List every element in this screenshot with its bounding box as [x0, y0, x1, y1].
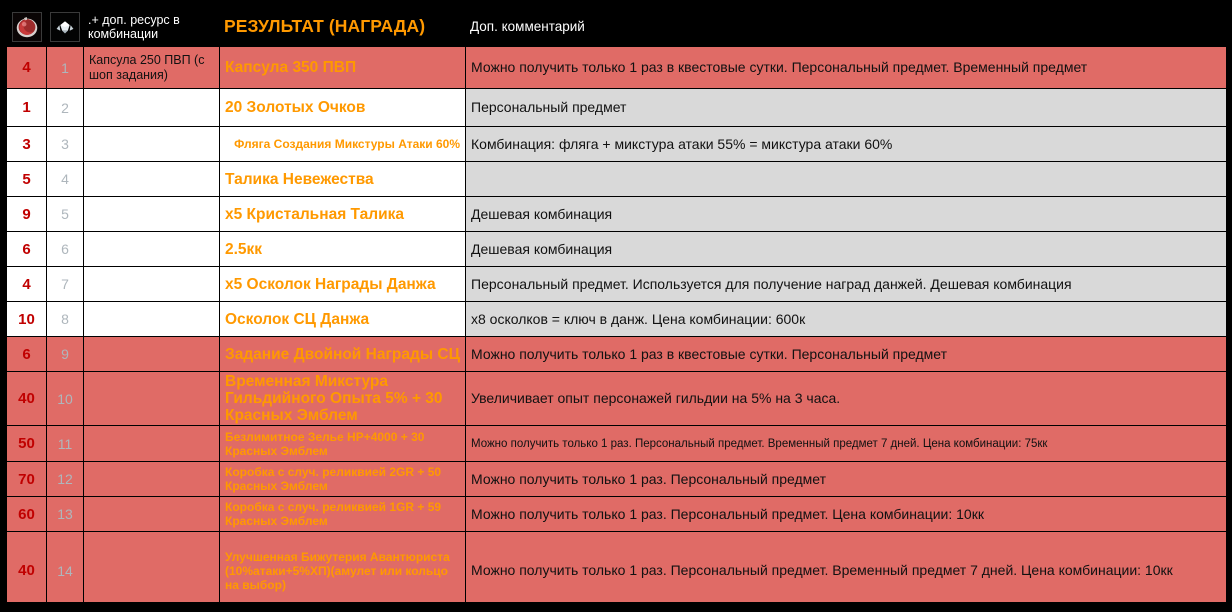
- table-row: 33Фляга Создания Микстуры Атаки 60%Комби…: [7, 127, 1227, 162]
- cell-extra-resource: [84, 372, 220, 426]
- header-comment-label: Доп. комментарий: [470, 19, 1222, 34]
- cell-comment: Можно получить только 1 раз. Персональны…: [466, 462, 1227, 497]
- cell-comment: [466, 162, 1227, 197]
- cell-comment: Персональный предмет: [466, 89, 1227, 127]
- cell-comment: x8 осколков = ключ в данж. Цена комбинац…: [466, 302, 1227, 337]
- table-row: 7012Коробка с случ. реликвией 2GR + 50 К…: [7, 462, 1227, 497]
- cell-cost: 6: [7, 232, 47, 267]
- cell-comment: Можно получить только 1 раз. Персональны…: [466, 532, 1227, 610]
- cell-extra-resource: [84, 462, 220, 497]
- header-comment-cell: Доп. комментарий: [466, 7, 1227, 47]
- cell-comment: Дешевая комбинация: [466, 197, 1227, 232]
- cell-result: 2.5кк: [220, 232, 466, 267]
- cell-comment: Персональный предмет. Используется для п…: [466, 267, 1227, 302]
- table-row: 6013Коробка с случ. реликвией 1GR + 59 К…: [7, 497, 1227, 532]
- cell-extra-resource: [84, 532, 220, 610]
- header-cost-icon-cell: [7, 7, 47, 47]
- cell-comment: Можно получить только 1 раз. Персональны…: [466, 497, 1227, 532]
- cell-extra-resource: Капсула 250 ПВП (с шоп задания): [84, 47, 220, 89]
- cell-result: x5 Кристальная Талика: [220, 197, 466, 232]
- cell-extra-resource: [84, 497, 220, 532]
- cell-index: 12: [47, 462, 84, 497]
- cell-index: 10: [47, 372, 84, 426]
- table-row: 41Капсула 250 ПВП (с шоп задания)Капсула…: [7, 47, 1227, 89]
- cell-index: 9: [47, 337, 84, 372]
- cell-comment: Увеличивает опыт персонажей гильдии на 5…: [466, 372, 1227, 426]
- header-resource-icon-cell: [47, 7, 84, 47]
- cell-extra-resource: [84, 267, 220, 302]
- cell-extra-resource: [84, 162, 220, 197]
- cell-cost: 60: [7, 497, 47, 532]
- cell-result: Коробка с случ. реликвией 2GR + 50 Красн…: [220, 462, 466, 497]
- header-extra-cell: .+ доп. ресурс в комбинации: [84, 7, 220, 47]
- cell-result: Улучшенная Бижутерия Авантюриста (10%ата…: [220, 532, 466, 610]
- cell-index: 4: [47, 162, 84, 197]
- table-row: 662.5ккДешевая комбинация: [7, 232, 1227, 267]
- cell-cost: 6: [7, 337, 47, 372]
- red-gem-icon: [12, 12, 42, 42]
- cell-comment: Можно получить только 1 раз в квестовые …: [466, 337, 1227, 372]
- cell-index: 6: [47, 232, 84, 267]
- cell-cost: 40: [7, 372, 47, 426]
- cell-index: 5: [47, 197, 84, 232]
- cell-cost: 9: [7, 197, 47, 232]
- header-result-label: РЕЗУЛЬТАТ (НАГРАДА): [224, 16, 461, 37]
- table-row: 1220 Золотых ОчковПерсональный предмет: [7, 89, 1227, 127]
- cell-comment: Комбинация: фляга + микстура атаки 55% =…: [466, 127, 1227, 162]
- header-result-cell: РЕЗУЛЬТАТ (НАГРАДА): [220, 7, 466, 47]
- cell-result: Задание Двойной Награды СЦ: [220, 337, 466, 372]
- cell-cost: 70: [7, 462, 47, 497]
- cell-result: Коробка с случ. реликвией 1GR + 59 Красн…: [220, 497, 466, 532]
- cell-index: 8: [47, 302, 84, 337]
- reward-table-body: .+ доп. ресурс в комбинации РЕЗУЛЬТАТ (Н…: [7, 7, 1227, 610]
- cell-extra-resource: [84, 426, 220, 462]
- cell-extra-resource: [84, 197, 220, 232]
- reward-table: .+ доп. ресурс в комбинации РЕЗУЛЬТАТ (Н…: [6, 6, 1227, 610]
- header-extra-label: .+ доп. ресурс в комбинации: [88, 13, 215, 41]
- cell-result: x5 Осколок Награды Данжа: [220, 267, 466, 302]
- cell-comment: Можно получить только 1 раз в квестовые …: [466, 47, 1227, 89]
- table-row: 47x5 Осколок Награды ДанжаПерсональный п…: [7, 267, 1227, 302]
- cell-index: 3: [47, 127, 84, 162]
- cell-index: 11: [47, 426, 84, 462]
- table-header-row: .+ доп. ресурс в комбинации РЕЗУЛЬТАТ (Н…: [7, 7, 1227, 47]
- cell-cost: 1: [7, 89, 47, 127]
- cell-cost: 4: [7, 47, 47, 89]
- cell-cost: 4: [7, 267, 47, 302]
- cell-result: Талика Невежества: [220, 162, 466, 197]
- table-row: 108Осколок СЦ Данжаx8 осколков = ключ в …: [7, 302, 1227, 337]
- cell-result: Капсула 350 ПВП: [220, 47, 466, 89]
- cell-extra-resource: [84, 232, 220, 267]
- cell-result: Временная Микстура Гильдийного Опыта 5% …: [220, 372, 466, 426]
- cell-result: Осколок СЦ Данжа: [220, 302, 466, 337]
- cell-comment: Можно получить только 1 раз. Персональны…: [466, 426, 1227, 462]
- cell-index: 1: [47, 47, 84, 89]
- table-row: 54Талика Невежества: [7, 162, 1227, 197]
- cell-result: 20 Золотых Очков: [220, 89, 466, 127]
- table-row: 4010Временная Микстура Гильдийного Опыта…: [7, 372, 1227, 426]
- cell-result: Фляга Создания Микстуры Атаки 60%: [220, 127, 466, 162]
- cell-cost: 50: [7, 426, 47, 462]
- table-row: 95x5 Кристальная ТаликаДешевая комбинаци…: [7, 197, 1227, 232]
- cell-index: 2: [47, 89, 84, 127]
- cell-cost: 40: [7, 532, 47, 610]
- cell-extra-resource: [84, 337, 220, 372]
- cell-index: 7: [47, 267, 84, 302]
- cell-cost: 10: [7, 302, 47, 337]
- cell-extra-resource: [84, 89, 220, 127]
- cell-cost: 5: [7, 162, 47, 197]
- bottom-spacer: [0, 602, 1232, 612]
- cell-result: Безлимитное Зелье HP+4000 + 30 Красных Э…: [220, 426, 466, 462]
- table-row: 5011Безлимитное Зелье HP+4000 + 30 Красн…: [7, 426, 1227, 462]
- cell-index: 14: [47, 532, 84, 610]
- table-row: 69Задание Двойной Награды СЦМожно получи…: [7, 337, 1227, 372]
- cell-extra-resource: [84, 127, 220, 162]
- cell-index: 13: [47, 497, 84, 532]
- table-row: 4014Улучшенная Бижутерия Авантюриста (10…: [7, 532, 1227, 610]
- cell-extra-resource: [84, 302, 220, 337]
- cell-cost: 3: [7, 127, 47, 162]
- silver-crystal-icon: [50, 12, 80, 42]
- cell-comment: Дешевая комбинация: [466, 232, 1227, 267]
- reward-combination-sheet: .+ доп. ресурс в комбинации РЕЗУЛЬТАТ (Н…: [0, 6, 1232, 612]
